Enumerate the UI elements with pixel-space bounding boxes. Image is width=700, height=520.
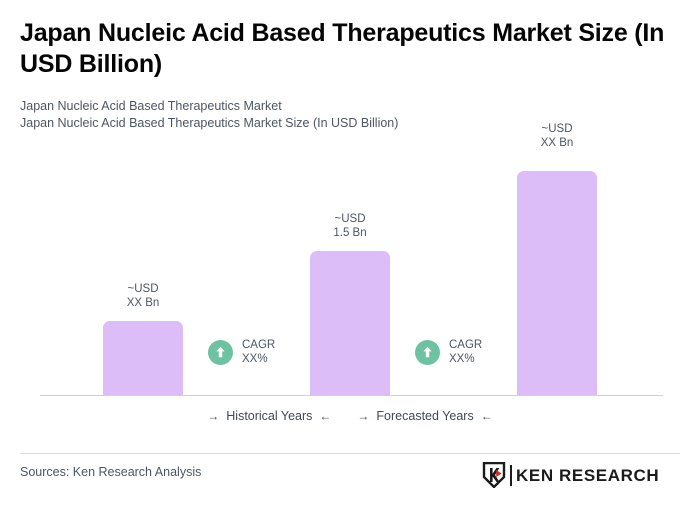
cagr-2-text: CAGR XX% <box>449 338 482 366</box>
arrow-up-icon <box>215 346 226 358</box>
chart-card: Japan Nucleic Acid Based Therapeutics Ma… <box>0 0 700 520</box>
cagr-2-annotation: CAGR XX% <box>415 338 482 366</box>
bar-1-value-label-line-2: XX Bn <box>103 296 183 310</box>
footer-divider <box>20 453 680 454</box>
cagr-2-line-2: XX% <box>449 352 482 366</box>
arrow-left-icon: ← <box>319 410 331 422</box>
bar-3-value-label-line-2: XX Bn <box>517 136 597 150</box>
sources-text: Sources: Ken Research Analysis <box>20 465 201 479</box>
cagr-2-circle <box>415 340 440 365</box>
bar-1[interactable] <box>103 321 183 395</box>
period-historical: → Historical Years ← <box>207 409 331 423</box>
bar-3-value-label-line-1: ~USD <box>517 122 597 136</box>
brand-divider-icon <box>510 465 512 486</box>
brand-wordmark: KEN RESEARCH <box>516 467 659 484</box>
bar-1-value-label: ~USD XX Bn <box>103 282 183 310</box>
axis-baseline <box>40 395 663 396</box>
bar-2-value-label: ~USD 1.5 Bn <box>310 212 390 240</box>
page-title: Japan Nucleic Acid Based Therapeutics Ma… <box>20 18 670 80</box>
bar-3-value-label: ~USD XX Bn <box>517 122 597 150</box>
period-legend-row: → Historical Years ← → Forecasted Years … <box>0 409 700 423</box>
bar-2[interactable] <box>310 251 390 395</box>
cagr-1-line-2: XX% <box>242 352 275 366</box>
cagr-1-circle <box>208 340 233 365</box>
bar-3[interactable] <box>517 171 597 395</box>
plot-area: ~USD XX Bn CAGR XX% ~USD 1.5 Bn <box>0 110 700 400</box>
bar-1-value-label-line-1: ~USD <box>103 282 183 296</box>
bar-2-value-label-line-1: ~USD <box>310 212 390 226</box>
cagr-1-line-1: CAGR <box>242 338 275 352</box>
period-forecasted-label: Forecasted Years <box>376 409 473 423</box>
arrow-right-icon: → <box>357 410 369 422</box>
brand-logo: KEN RESEARCH <box>482 462 659 488</box>
ken-research-shield-icon <box>482 462 506 488</box>
period-historical-label: Historical Years <box>226 409 312 423</box>
cagr-1-annotation: CAGR XX% <box>208 338 275 366</box>
arrow-left-icon: ← <box>481 410 493 422</box>
cagr-1-text: CAGR XX% <box>242 338 275 366</box>
cagr-2-line-1: CAGR <box>449 338 482 352</box>
arrow-right-icon: → <box>207 410 219 422</box>
period-forecasted: → Forecasted Years ← <box>357 409 492 423</box>
arrow-up-icon <box>422 346 433 358</box>
bar-2-value-label-line-2: 1.5 Bn <box>310 226 390 240</box>
